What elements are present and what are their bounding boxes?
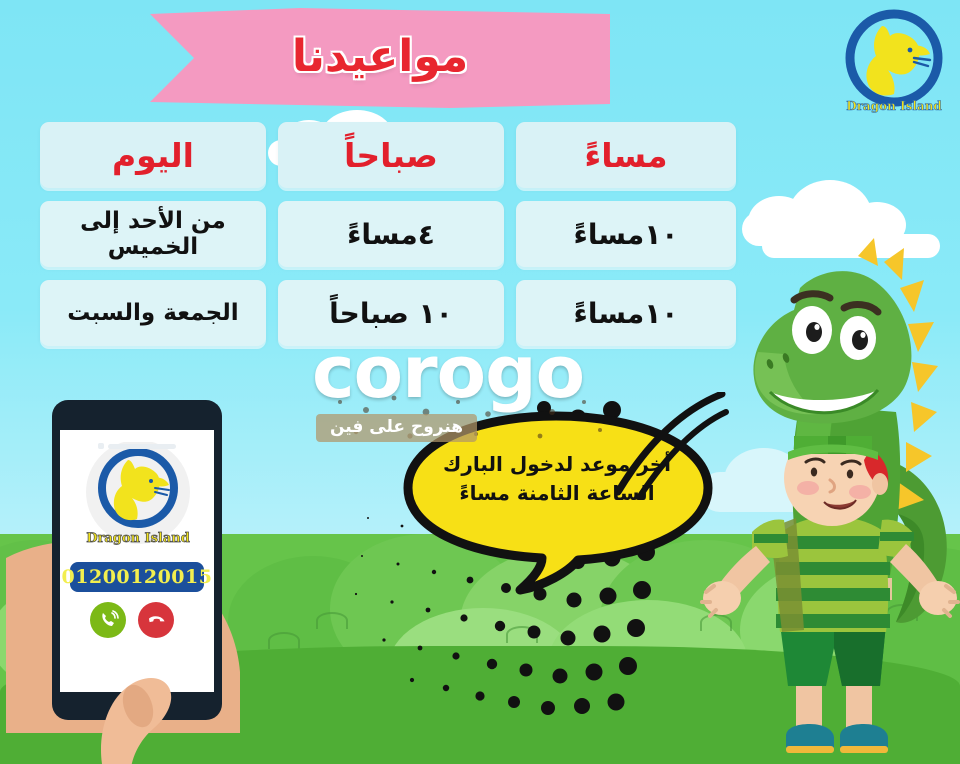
thumb-icon xyxy=(92,644,222,764)
row2-evening: ١٠مساءً xyxy=(516,280,736,346)
row1-day: من الأحد إلى الخميس xyxy=(40,201,266,267)
speech-line-2: الساعة الثامنة مساءً xyxy=(422,479,692,508)
boy-character xyxy=(700,436,960,764)
banner-title: مواعيدنا xyxy=(150,8,610,108)
schedule-header-row: مساءً صباحاً اليوم xyxy=(40,122,736,188)
schedule-table: مساءً صباحاً اليوم ١٠مساءً ٤مساءً من الأ… xyxy=(40,122,736,346)
banner-ribbon: مواعيدنا xyxy=(150,8,610,108)
speech-bubble-text: أخر موعد لدخول البارك الساعة الثامنة مسا… xyxy=(422,450,692,508)
phone-dragon-island-logo-icon: Dragon Island xyxy=(82,442,194,554)
header-evening: مساءً xyxy=(516,122,736,188)
header-morning: صباحاً xyxy=(278,122,504,188)
phone-hangup-icon[interactable] xyxy=(138,602,174,638)
phone-call-icon[interactable] xyxy=(90,602,126,638)
speech-line-1: أخر موعد لدخول البارك xyxy=(422,450,692,479)
phone-number[interactable]: 01200120015 xyxy=(70,562,204,592)
phone-logo-text: Dragon Island xyxy=(86,531,190,546)
phone-speaker xyxy=(108,444,176,449)
logo-text-top: Dragon Island xyxy=(846,99,942,113)
call-buttons xyxy=(90,602,186,638)
phone-camera xyxy=(98,443,104,449)
row1-evening: ١٠مساءً xyxy=(516,201,736,267)
row2-day: الجمعة والسبت xyxy=(40,280,266,346)
schedule-row-2: ١٠مساءً ١٠ صباحاً الجمعة والسبت xyxy=(40,280,736,346)
dragon-island-logo-icon: Dragon Island xyxy=(838,6,950,118)
row2-morning: ١٠ صباحاً xyxy=(278,280,504,346)
poster-canvas: أخر موعد لدخول البارك الساعة الثامنة مسا… xyxy=(0,0,960,764)
header-day: اليوم xyxy=(40,122,266,188)
speech-bubble: أخر موعد لدخول البارك الساعة الثامنة مسا… xyxy=(392,410,722,595)
schedule-row-1: ١٠مساءً ٤مساءً من الأحد إلى الخميس xyxy=(40,201,736,267)
row1-morning: ٤مساءً xyxy=(278,201,504,267)
phone-mockup: Dragon Island 01200120015 xyxy=(52,400,222,730)
